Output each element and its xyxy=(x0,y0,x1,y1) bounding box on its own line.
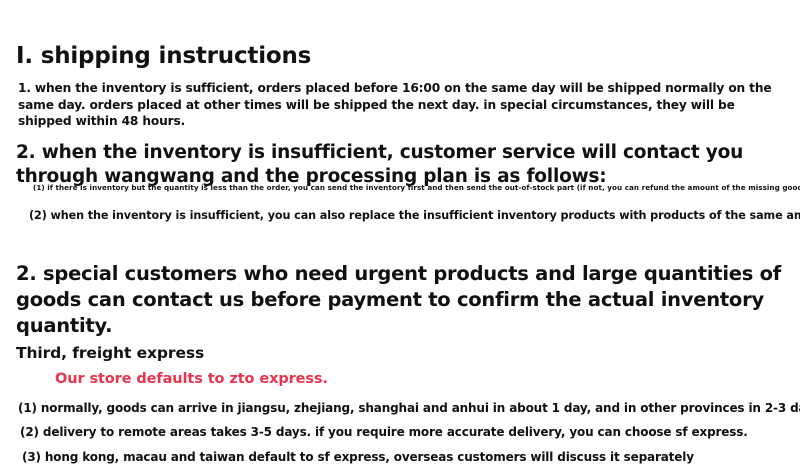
default-courier-notice: Our store defaults to zto express. xyxy=(55,371,328,387)
sub-item-2: (2) when the inventory is insufficient, … xyxy=(29,209,800,224)
delivery-note-3: (3) hong kong, macau and taiwan default … xyxy=(22,450,694,466)
sub-item-1: (1) if there is inventory but the quanti… xyxy=(33,183,800,192)
delivery-note-2: (2) delivery to remote areas takes 3-5 d… xyxy=(20,425,748,441)
page-title: I. shipping instructions xyxy=(16,43,311,69)
delivery-note-1: (1) normally, goods can arrive in jiangs… xyxy=(18,401,800,417)
freight-express-heading: Third, freight express xyxy=(16,344,204,362)
special-customers-heading: 2. special customers who need urgent pro… xyxy=(16,261,788,339)
shipping-paragraph-1: 1. when the inventory is sufficient, ord… xyxy=(18,80,786,130)
insufficient-inventory-heading: 2. when the inventory is insufficient, c… xyxy=(16,141,756,188)
document-page: I. shipping instructions 1. when the inv… xyxy=(0,0,800,475)
